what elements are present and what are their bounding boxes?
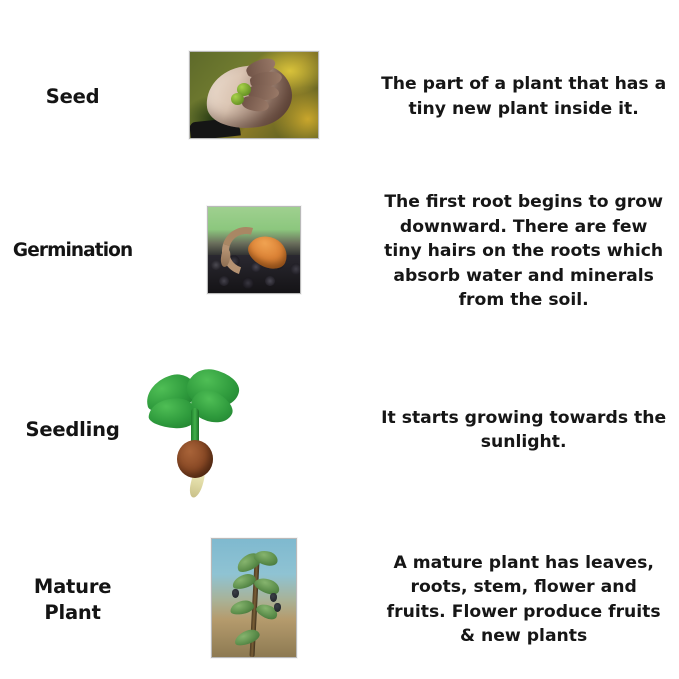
term-cell-seed: Seed [6, 30, 139, 163]
flower-shape [274, 603, 281, 612]
table-row: Seed [6, 30, 679, 163]
description-text: It starts growing towards the sunlight. [368, 406, 679, 455]
table-row: Germination The first root begins to gro… [6, 163, 679, 340]
green-seed-shape [231, 93, 244, 105]
description-text: The part of a plant that has a tiny new … [368, 72, 679, 121]
table-row: Seedling [6, 340, 679, 520]
term-label: Germination [6, 239, 139, 263]
plant-life-cycle-table-page: Seed [0, 0, 679, 679]
image-cell-germination [139, 163, 368, 340]
seed-shape [177, 440, 213, 478]
flower-shape [270, 593, 277, 602]
term-label: Seed [6, 84, 139, 110]
term-cell-mature-plant: Mature Plant [6, 520, 139, 679]
life-cycle-table: Seed [6, 30, 679, 679]
seed-photo [189, 51, 319, 139]
description-text: A mature plant has leaves, roots, stem, … [368, 551, 679, 649]
seedling-illustration [139, 364, 251, 496]
image-cell-mature-plant [139, 520, 368, 679]
image-cell-seedling [139, 340, 368, 520]
flower-shape [232, 589, 239, 598]
image-cell-seed [139, 30, 368, 163]
description-cell-mature-plant: A mature plant has leaves, roots, stem, … [368, 520, 679, 679]
term-label-line-2: Plant [8, 600, 137, 626]
term-label-line-1: Mature [8, 574, 137, 600]
term-cell-germination: Germination [6, 163, 139, 340]
mature-plant-photo [211, 538, 297, 658]
description-cell-seedling: It starts growing towards the sunlight. [368, 340, 679, 520]
description-cell-germination: The first root begins to grow downward. … [368, 163, 679, 340]
term-label: Seedling [6, 417, 139, 443]
term-cell-seedling: Seedling [6, 340, 139, 520]
description-text: The first root begins to grow downward. … [368, 190, 679, 312]
description-cell-seed: The part of a plant that has a tiny new … [368, 30, 679, 163]
leaf-shape [232, 626, 261, 647]
germination-photo [207, 206, 301, 294]
table-row: Mature Plant [6, 520, 679, 679]
term-label: Mature Plant [6, 574, 139, 625]
